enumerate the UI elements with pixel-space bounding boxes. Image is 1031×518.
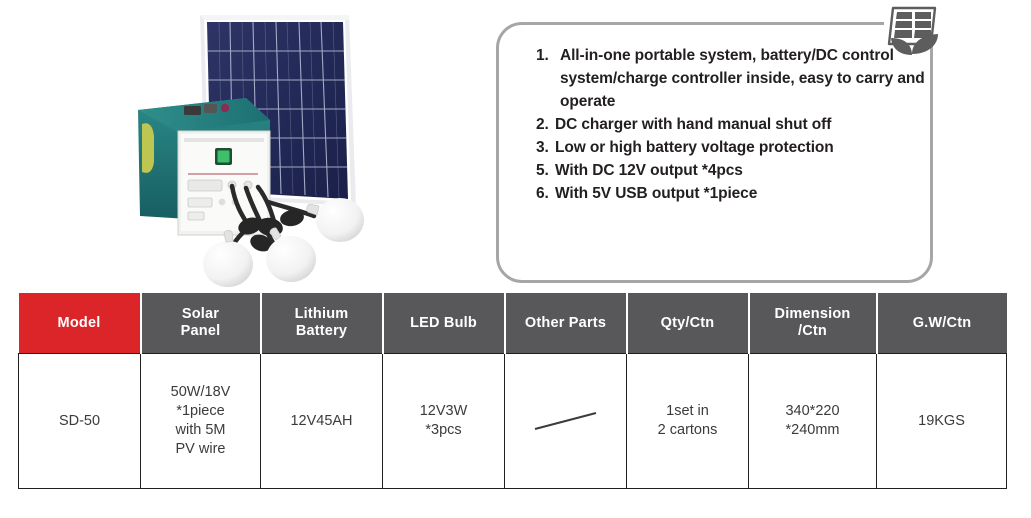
product-photo-illustration (118, 2, 418, 290)
feature-item: 3. Low or high battery voltage protectio… (536, 136, 926, 159)
column-header-gw-ctn: G.W/Ctn (877, 293, 1007, 354)
feature-item: 2. DC charger with hand manual shut off (536, 113, 926, 136)
column-header-model: Model (19, 293, 141, 354)
column-header-led-bulb: LED Bulb (383, 293, 505, 354)
cell-gw-ctn: 19KGS (877, 354, 1007, 489)
diagonal-slash-icon (530, 408, 602, 434)
column-header-dimension-ctn: Dimension /Ctn (749, 293, 877, 354)
feature-number: 1. (536, 44, 560, 67)
feature-number: 6. (536, 182, 555, 205)
feature-number: 5. (536, 159, 555, 182)
feature-text: With 5V USB output *1piece (555, 182, 926, 205)
cell-qty-ctn: 1set in 2 cartons (627, 354, 749, 489)
product-photo (118, 2, 418, 290)
feature-text: All-in-one portable system, battery/DC c… (560, 44, 926, 113)
product-spec-sheet: 1. All-in-one portable system, battery/D… (0, 0, 1031, 518)
cell-model: SD-50 (19, 354, 141, 489)
cell-lithium-battery: 12V45AH (261, 354, 383, 489)
feature-list: 1. All-in-one portable system, battery/D… (536, 44, 926, 205)
feature-number: 2. (536, 113, 555, 136)
solar-panel-leaf-logo-icon (881, 2, 943, 60)
column-header-solar-panel: Solar Panel (141, 293, 261, 354)
specification-table: Model Solar Panel Lithium Battery LED Bu… (18, 293, 1007, 489)
table-row: SD-50 50W/18V *1piece with 5M PV wire 12… (19, 354, 1007, 489)
feature-text: DC charger with hand manual shut off (555, 113, 926, 136)
feature-item: 5. With DC 12V output *4pcs (536, 159, 926, 182)
feature-item: 6. With 5V USB output *1piece (536, 182, 926, 205)
feature-item: 1. All-in-one portable system, battery/D… (536, 44, 926, 113)
table-header-row: Model Solar Panel Lithium Battery LED Bu… (19, 293, 1007, 354)
cell-dimension-ctn: 340*220 *240mm (749, 354, 877, 489)
column-header-other-parts: Other Parts (505, 293, 627, 354)
cell-other-parts (505, 354, 627, 489)
feature-number: 3. (536, 136, 555, 159)
column-header-lithium-battery: Lithium Battery (261, 293, 383, 354)
cell-led-bulb: 12V3W *3pcs (383, 354, 505, 489)
feature-text: Low or high battery voltage protection (555, 136, 926, 159)
column-header-qty-ctn: Qty/Ctn (627, 293, 749, 354)
cell-solar-panel: 50W/18V *1piece with 5M PV wire (141, 354, 261, 489)
control-unit-photo (138, 98, 270, 235)
feature-text: With DC 12V output *4pcs (555, 159, 926, 182)
